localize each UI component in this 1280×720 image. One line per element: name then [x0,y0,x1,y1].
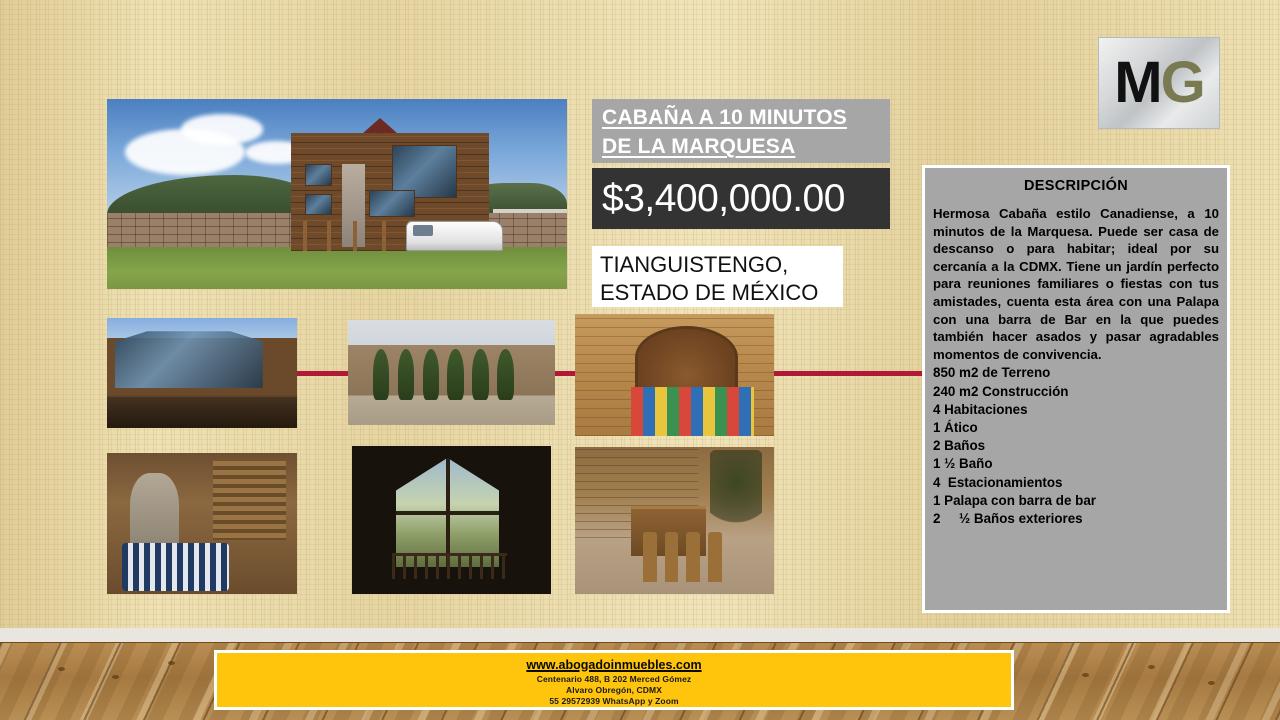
thumbnail-photo-5[interactable] [352,446,551,594]
company-logo[interactable]: MG [1098,37,1220,129]
thumbnail-photo-4[interactable] [107,453,297,594]
feature-item: 1 Ático [933,419,1219,437]
thumbnail-photo-2[interactable] [348,320,555,425]
cabin-window [305,164,333,187]
logo-lettering: MG [1114,54,1203,112]
connector-line-left [297,371,355,376]
bed-headboard [635,326,738,389]
striped-sofa [122,543,228,591]
location-line-2: ESTADO DE MÉXICO [600,279,843,307]
cabin-window [305,194,333,215]
cabin-porch-posts [296,221,416,251]
description-heading: DESCRIPCIÓN [933,178,1219,194]
description-panel: DESCRIPCIÓN Hermosa Cabaña estilo Canadi… [922,165,1230,613]
address-line-1: Centenario 488, B 202 Merced Gómez [217,674,1011,685]
phone-line: 55 29572939 WhatsApp y Zoom [217,696,1011,707]
feature-item: 850 m2 de Terreno [933,364,1219,382]
feature-item: 240 m2 Construcción [933,383,1219,401]
feature-item: 2 ½ Baños exteriores [933,510,1219,528]
listing-title-bar: CABAÑA A 10 MINUTOS DE LA MARQUESA [592,99,890,163]
footer-contact-banner: www.abogadoinmuebles.com Centenario 488,… [214,650,1014,710]
logo-letter-g: G [1161,50,1204,115]
balcony-railing [392,553,507,580]
address-line-2: Alvaro Obregón, CDMX [217,685,1011,696]
bed-quilt [631,387,754,436]
stone-fireplace [130,473,179,552]
feature-item: 1 Palapa con barra de bar [933,492,1219,510]
feature-item: 4 Estacionamientos [933,474,1219,492]
website-link[interactable]: www.abogadoinmuebles.com [526,658,701,672]
thumb-image-content [352,446,551,594]
location-box: TIANGUISTENGO, ESTADO DE MÉXICO [592,246,843,307]
photo-lawn [107,247,567,289]
description-paragraph: Hermosa Cabaña estilo Canadiense, a 10 m… [933,205,1219,363]
connector-line-right [770,371,926,376]
feature-item: 1 ½ Baño [933,455,1219,473]
price-bar: $3,400,000.00 [592,168,890,229]
thumbnail-photo-3[interactable] [575,314,774,436]
thumb-image-content [348,320,555,425]
feature-item: 4 Habitaciones [933,401,1219,419]
cloud-shape [181,114,264,144]
van-window [413,225,434,236]
staircase [213,461,285,540]
palapa-tree [710,450,762,532]
thumbnail-photo-6[interactable] [575,447,774,594]
cabin-window [369,190,415,217]
logo-letter-m: M [1114,50,1160,115]
slide-canvas: CABAÑA A 10 MINUTOS DE LA MARQUESA $3,40… [0,0,1280,720]
location-line-1: TIANGUISTENGO, [600,251,843,279]
thumbnail-photo-1[interactable] [107,318,297,428]
feature-list: 850 m2 de Terreno 240 m2 Construcción 4 … [933,364,1219,528]
price-value: $3,400,000.00 [602,179,845,218]
photo-white-van [406,221,503,251]
thumb-image-content [107,453,297,594]
listing-title-line-2: DE LA MARQUESA [602,132,882,161]
thumb-image-content [575,447,774,594]
listing-title-line-1: CABAÑA A 10 MINUTOS [602,103,882,132]
main-property-photo[interactable] [107,99,567,289]
thumb-image-content [575,314,774,436]
feature-item: 2 Baños [933,437,1219,455]
floor-gap-strip [0,628,1280,642]
thumb-image-content [107,318,297,428]
